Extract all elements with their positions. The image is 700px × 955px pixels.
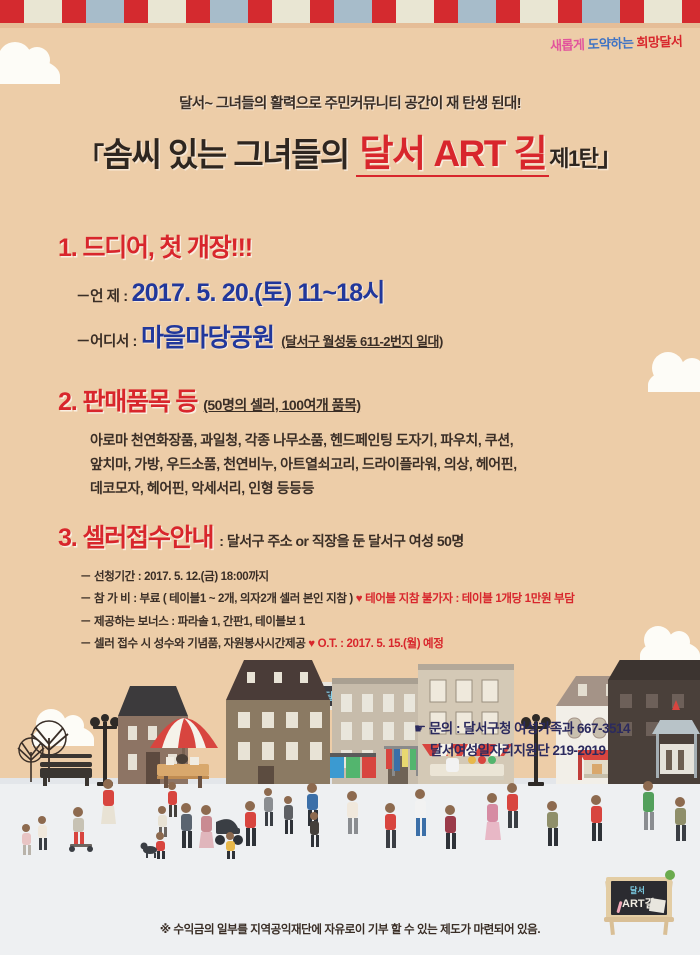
cloud-icon <box>640 640 700 662</box>
where-value: 마을마당공원 <box>141 318 274 354</box>
section-2-number: 2. <box>58 388 76 417</box>
bullet-text: － 선청기간 : 2017. 5. 12.(금) 18:00까지 <box>80 571 269 583</box>
section-1-number: 1. <box>58 234 76 263</box>
bullet-item: － 선청기간 : 2017. 5. 12.(금) 18:00까지 <box>80 566 574 588</box>
bullet-text: － 제공하는 보너스 : 파라솔 1, 간판1, 테이블보 1 <box>80 616 305 628</box>
section-2-title: 판매품목 등 <box>82 382 197 418</box>
goods-list: 아로마 천연화장품, 과일청, 각종 나무소품, 헨드페인팅 도자기, 파우치,… <box>58 428 517 500</box>
title-accent: 달서 ART 길 <box>356 133 549 177</box>
where-note: (달서구 월성동 611-2번지 일대) <box>281 331 443 350</box>
lamppost-icon <box>90 714 120 786</box>
city-street-illustration: 달서 ART길 <box>0 660 700 955</box>
contact-text-1: 문의 : 달서구청 여성가족과 667-3514 <box>429 721 630 736</box>
title-prefix: 솜씨 있는 그녀들의 <box>103 136 349 173</box>
headline-block: 달서~ 그녀들의 활력으로 주민커뮤니티 공간이 재 탄생 된대! 「솜씨 있는… <box>0 92 700 177</box>
contact-line-1: ☛ 문의 : 달서구청 여성가족과 667-3514 <box>414 718 630 740</box>
bullet-text: － 셀러 접수 시 성수와 기념품, 자원봉사시간제공 <box>80 638 305 650</box>
park-bench-and-trees <box>18 721 92 786</box>
poster-canvas: 새롭게 도약하는 희망달서 달서~ 그녀들의 활력으로 주민커뮤니티 공간이 재… <box>0 0 700 955</box>
title-open-bracket: 「 <box>78 142 103 172</box>
when-row: －언 제 : 2017. 5. 20.(토) 11~18시 <box>58 273 443 309</box>
kicker-text: 달서~ 그녀들의 활력으로 주민커뮤니티 공간이 재 탄생 된대! <box>0 92 700 113</box>
title-suffix: 제1탄 <box>549 146 597 171</box>
bullet-highlight: ♥ O.T. : 2017. 5. 15.(월) 예정 <box>308 638 443 650</box>
section-2-heading: 2. 판매품목 등 (50명의 셀러, 100여개 품목) <box>58 382 517 418</box>
section-3-heading: 3. 셀러접수안내 : 달서구 주소 or 직장을 둔 달서구 여성 50명 <box>58 518 574 554</box>
cloud-icon <box>648 368 700 392</box>
contact-block: ☛ 문의 : 달서구청 여성가족과 667-3514 달서여성일자리지원단 21… <box>414 718 630 763</box>
title-close-bracket: 」 <box>597 142 622 172</box>
chalkboard-line-1: 달서 <box>630 885 645 895</box>
section-3-subtitle: : 달서구 주소 or 직장을 둔 달서구 여성 50명 <box>219 531 464 551</box>
section-3-number: 3. <box>58 524 76 553</box>
pointer-hand-icon: ☛ <box>414 721 426 736</box>
brand-logo-part2: 도약하는 <box>587 35 633 52</box>
contact-line-2: 달서여성일자리지원단 219-2019 <box>414 740 630 762</box>
where-row: －어디서 : 마을마당공원 (달서구 월성동 611-2번지 일대) <box>58 318 443 354</box>
section-goods: 2. 판매품목 등 (50명의 셀러, 100여개 품목) 아로마 천연화장품,… <box>58 382 517 500</box>
top-stripe-banner <box>0 0 700 23</box>
section-1-title: 드디어, 첫 개장!!! <box>82 228 251 264</box>
section-2-subtitle: (50명의 셀러, 100여개 품목) <box>203 395 360 415</box>
brand-logo: 새롭게 도약하는 희망달서 <box>549 31 682 55</box>
building-center-b <box>226 660 330 784</box>
section-opening: 1. 드디어, 첫 개장!!! －언 제 : 2017. 5. 20.(토) 1… <box>58 228 443 354</box>
bullet-list: － 선청기간 : 2017. 5. 12.(금) 18:00까지 － 참 가 비… <box>58 566 574 656</box>
bullet-item: － 제공하는 보너스 : 파라솔 1, 간판1, 테이블보 1 <box>80 611 574 633</box>
when-label: －언 제 : <box>76 285 128 306</box>
footer-note: ※ 수익금의 일부를 지역공익재단에 자유로이 기부 할 수 있는 제도가 마련… <box>0 921 700 937</box>
cloud-icon <box>0 58 60 84</box>
bullet-item: － 셀러 접수 시 성수와 기념품, 자원봉사시간제공 ♥ O.T. : 201… <box>80 633 574 655</box>
bullet-highlight: ♥ 테어블 지참 불가자 : 테이블 1개당 1만원 부담 <box>356 593 575 605</box>
bullet-item: － 참 가 비 : 부료 ( 테이블1 ~ 2개, 의자2개 셀러 본인 지참 … <box>80 588 574 610</box>
section-seller-application: 3. 셀러접수안내 : 달서구 주소 or 직장을 둔 달서구 여성 50명 －… <box>58 518 574 656</box>
section-1-heading: 1. 드디어, 첫 개장!!! <box>58 228 443 264</box>
section-3-title: 셀러접수안내 <box>82 518 213 554</box>
top-stripe-shadow <box>0 23 700 28</box>
when-value: 2017. 5. 20.(토) 11~18시 <box>132 273 385 309</box>
goods-line: 데코모자, 헤어핀, 악세서리, 인형 등등등 <box>90 476 517 500</box>
where-label: －어디서 : <box>76 330 137 351</box>
brand-logo-part1: 새롭게 <box>549 37 584 53</box>
brand-logo-part3: 희망달서 <box>636 34 682 51</box>
page-title: 「솜씨 있는 그녀들의 달서 ART 길제1탄」 <box>0 123 700 177</box>
bullet-text: － 참 가 비 : 부료 ( 테이블1 ~ 2개, 의자2개 셀러 본인 지참 … <box>80 593 353 605</box>
recycling-bins <box>330 753 376 778</box>
goods-line: 앞치마, 가방, 우드소품, 천연비누, 아트열쇠고리, 드라이플라워, 의상,… <box>90 452 517 476</box>
contact-text-2: 달서여성일자리지원단 219-2019 <box>430 743 606 758</box>
goods-line: 아로마 천연화장품, 과일청, 각종 나무소품, 헨드페인팅 도자기, 파우치,… <box>90 428 517 452</box>
